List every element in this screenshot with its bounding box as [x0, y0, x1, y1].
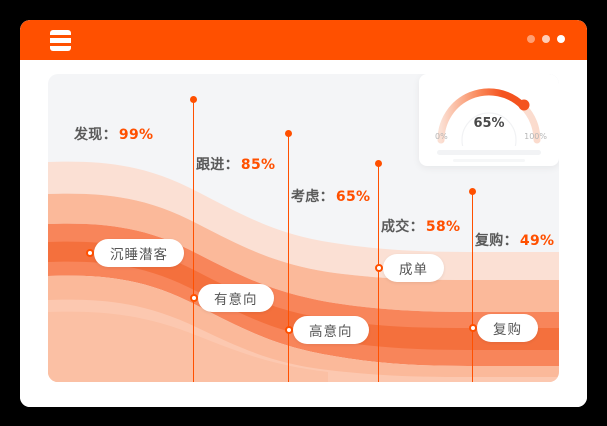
gauge-placeholder-bar-1: [437, 150, 541, 155]
stage-marker-cap-1: [190, 96, 197, 103]
stage-percent-2: 85%: [241, 157, 275, 173]
stage-marker-line-4: [472, 192, 473, 382]
list-block-icon[interactable]: [50, 30, 71, 51]
stage-percent-4: 58%: [426, 219, 460, 235]
stage-marker-line-3: [378, 164, 379, 382]
node-dot-4: [375, 264, 383, 272]
node-dot-5: [469, 324, 477, 332]
gauge-placeholder-bar-2: [453, 159, 525, 162]
node-label-4: 成单: [399, 258, 428, 278]
stage-label-5: 复购：49%: [475, 230, 554, 250]
window-dot-2-icon[interactable]: [542, 35, 550, 43]
stage-label-2: 跟进：85%: [196, 154, 275, 174]
stage-name-2: 跟进: [196, 157, 225, 173]
gauge-max-label: 100%: [524, 132, 547, 141]
gauge-min-label: 0%: [435, 132, 448, 141]
logo-bar-1: [50, 35, 71, 38]
node-dot-2: [190, 294, 198, 302]
node-pill-1[interactable]: 沉睡潜客: [94, 239, 184, 267]
node-label-5: 复购: [493, 318, 522, 338]
node-pill-2[interactable]: 有意向: [198, 284, 274, 312]
node-label-2: 有意向: [214, 288, 258, 308]
stage-marker-line-2: [288, 134, 289, 382]
window-dot-3-icon[interactable]: [557, 35, 565, 43]
node-pill-3[interactable]: 高意向: [293, 316, 369, 344]
stage-name-5: 复购: [475, 233, 504, 249]
stage-label-1: 发现：99%: [74, 124, 153, 144]
node-dot-1: [86, 249, 94, 257]
stage-percent-3: 65%: [336, 189, 370, 205]
stage-sep-3: ：: [320, 189, 334, 205]
gauge-card[interactable]: 65% 0% 100%: [419, 74, 559, 166]
stage-label-3: 考虑：65%: [291, 186, 370, 206]
stage-percent-1: 99%: [119, 127, 153, 143]
node-pill-4[interactable]: 成单: [383, 254, 444, 282]
stage-label-4: 成交：58%: [381, 216, 460, 236]
stage-sep-4: ：: [410, 219, 424, 235]
node-label-1: 沉睡潜客: [110, 243, 168, 263]
stage-name-1: 发现: [74, 127, 103, 143]
window-controls[interactable]: [527, 35, 565, 43]
stage-marker-line-1: [193, 100, 194, 382]
window-body: 发现：99% 跟进：85% 考虑：65% 成交：58% 复购：49% 沉睡: [20, 60, 587, 407]
stage-sep-5: ：: [504, 233, 518, 249]
window-dot-1-icon[interactable]: [527, 35, 535, 43]
node-dot-3: [285, 326, 293, 334]
stage-percent-5: 49%: [520, 233, 554, 249]
stage-sep-1: ：: [103, 127, 117, 143]
screenshot-root: 发现：99% 跟进：85% 考虑：65% 成交：58% 复购：49% 沉睡: [0, 0, 607, 426]
logo-bar-2: [50, 43, 71, 46]
node-label-3: 高意向: [309, 320, 353, 340]
funnel-chart-panel: 发现：99% 跟进：85% 考虑：65% 成交：58% 复购：49% 沉睡: [48, 74, 559, 382]
stage-marker-cap-2: [285, 130, 292, 137]
gauge-knob-icon: [519, 100, 530, 111]
stage-name-4: 成交: [381, 219, 410, 235]
stage-marker-cap-3: [375, 160, 382, 167]
window-titlebar: [20, 20, 587, 60]
app-window: 发现：99% 跟进：85% 考虑：65% 成交：58% 复购：49% 沉睡: [20, 20, 587, 407]
stage-marker-cap-4: [469, 188, 476, 195]
stage-name-3: 考虑: [291, 189, 320, 205]
node-pill-5[interactable]: 复购: [477, 314, 538, 342]
gauge-value-text: 65%: [419, 116, 559, 131]
stage-sep-2: ：: [225, 157, 239, 173]
